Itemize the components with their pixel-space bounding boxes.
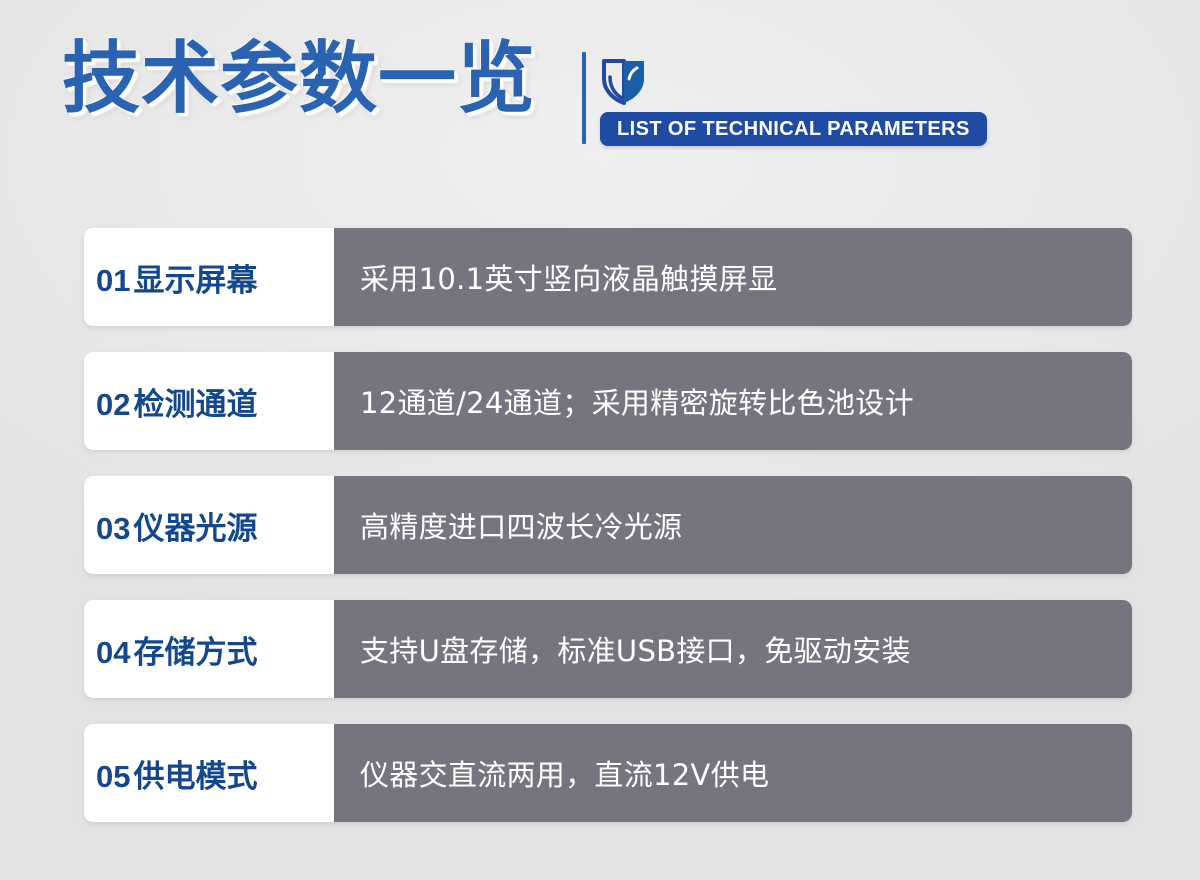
spec-number: 02 xyxy=(96,387,130,423)
spec-row: 04 存储方式 支持U盘存储，标准USB接口，免驱动安装 xyxy=(84,600,1132,698)
spec-label-inner: 02 检测通道 xyxy=(96,379,257,424)
spec-label-inner: 04 存储方式 xyxy=(96,627,257,672)
spec-row: 03 仪器光源 高精度进口四波长冷光源 xyxy=(84,476,1132,574)
spec-value-text: 高精度进口四波长冷光源 xyxy=(360,504,682,546)
spec-value-panel: 采用10.1英寸竖向液晶触摸屏显 xyxy=(334,228,1132,326)
page-header: 技术参数一览 LIST OF TECHNICAL PARAMETERS xyxy=(0,0,1200,190)
spec-value-panel: 支持U盘存储，标准USB接口，免驱动安装 xyxy=(334,600,1132,698)
spec-row: 01 显示屏幕 采用10.1英寸竖向液晶触摸屏显 xyxy=(84,228,1132,326)
spec-label-panel: 05 供电模式 xyxy=(84,724,334,822)
technical-parameters-page: 技术参数一览 LIST OF TECHNICAL PARAMETERS 01 xyxy=(0,0,1200,880)
spec-name: 仪器光源 xyxy=(133,503,257,548)
spec-value-panel: 高精度进口四波长冷光源 xyxy=(334,476,1132,574)
spec-label-panel: 02 检测通道 xyxy=(84,352,334,450)
spec-name: 显示屏幕 xyxy=(133,255,257,300)
spec-number: 03 xyxy=(96,511,130,547)
spec-name: 存储方式 xyxy=(133,627,257,672)
english-subtitle-text: LIST OF TECHNICAL PARAMETERS xyxy=(617,118,970,141)
spec-row: 05 供电模式 仪器交直流两用，直流12V供电 xyxy=(84,724,1132,822)
spec-value-text: 12通道/24通道；采用精密旋转比色池设计 xyxy=(360,380,914,422)
spec-list: 01 显示屏幕 采用10.1英寸竖向液晶触摸屏显 02 检测通道 12通道/24… xyxy=(84,228,1132,822)
spec-value-text: 支持U盘存储，标准USB接口，免驱动安装 xyxy=(360,628,911,670)
spec-value-panel: 仪器交直流两用，直流12V供电 xyxy=(334,724,1132,822)
spec-name: 检测通道 xyxy=(133,379,257,424)
spec-label-inner: 05 供电模式 xyxy=(96,751,257,796)
spec-value-text: 采用10.1英寸竖向液晶触摸屏显 xyxy=(360,256,777,298)
spec-label-panel: 01 显示屏幕 xyxy=(84,228,334,326)
spec-label-panel: 04 存储方式 xyxy=(84,600,334,698)
spec-name: 供电模式 xyxy=(133,751,257,796)
leaf-shield-icon xyxy=(601,57,647,107)
spec-label-panel: 03 仪器光源 xyxy=(84,476,334,574)
spec-value-panel: 12通道/24通道；采用精密旋转比色池设计 xyxy=(334,352,1132,450)
spec-value-text: 仪器交直流两用，直流12V供电 xyxy=(360,752,769,794)
spec-number: 05 xyxy=(96,759,130,795)
page-title: 技术参数一览 xyxy=(62,36,536,122)
spec-number: 04 xyxy=(96,635,130,671)
english-subtitle-badge: LIST OF TECHNICAL PARAMETERS xyxy=(600,112,987,146)
spec-label-inner: 01 显示屏幕 xyxy=(96,255,257,300)
spec-label-inner: 03 仪器光源 xyxy=(96,503,257,548)
spec-row: 02 检测通道 12通道/24通道；采用精密旋转比色池设计 xyxy=(84,352,1132,450)
spec-number: 01 xyxy=(96,263,130,299)
vertical-divider xyxy=(582,52,586,144)
